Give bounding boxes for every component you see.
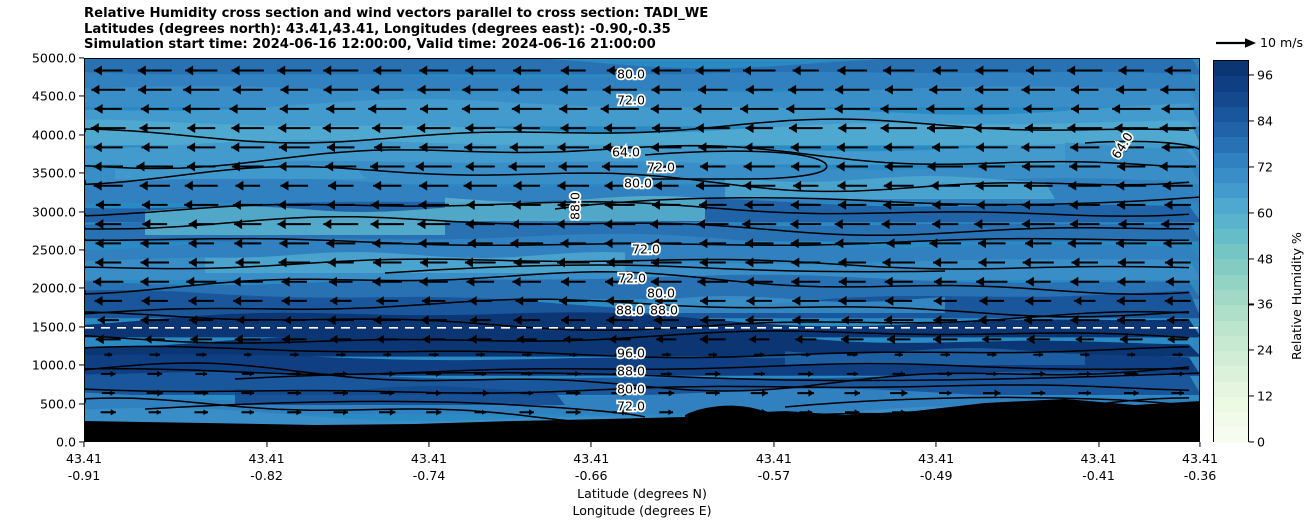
contour-label: 80.0: [617, 67, 645, 82]
y-tick-label: 5000.0: [32, 51, 76, 66]
colorbar-tick-mark: [1249, 304, 1254, 305]
colorbar-segment: [1214, 61, 1248, 76]
y-tick-label: 1500.0: [32, 319, 76, 334]
x-tick-mark: [266, 442, 267, 447]
colorbar-title: Relative Humidity %: [1289, 232, 1304, 360]
colorbar-tick-label: 0: [1257, 435, 1265, 450]
plot-canvas: 80.080.072.072.064.064.072.072.080.080.0…: [85, 59, 1200, 442]
x-tick-mark: [936, 442, 937, 447]
x-tick-mark: [1199, 442, 1200, 447]
colorbar: [1213, 60, 1249, 442]
y-tick-mark: [79, 211, 84, 212]
x-tick-mark: [83, 442, 84, 447]
contour-label: 72.0: [647, 160, 675, 175]
y-tick-mark: [79, 134, 84, 135]
x-tick-longitude: -0.49: [918, 467, 954, 484]
y-tick-mark: [79, 365, 84, 366]
contour-label: 80.0: [647, 286, 675, 301]
colorbar-segment: [1214, 290, 1248, 305]
colorbar-tick-label: 24: [1257, 343, 1273, 358]
contour-label: 64.0: [612, 145, 640, 160]
wind-scale-key: 10 m/s: [1214, 33, 1302, 55]
x-tick-latitude: 43.41: [573, 450, 609, 467]
title-line-1: Relative Humidity cross section and wind…: [84, 6, 1194, 22]
colorbar-tick-label: 12: [1257, 389, 1273, 404]
chart-title: Relative Humidity cross section and wind…: [84, 6, 1194, 53]
y-tick-mark: [79, 57, 84, 58]
y-tick-label: 500.0: [40, 396, 76, 411]
title-line-3: Simulation start time: 2024-06-16 12:00:…: [84, 37, 1194, 53]
x-tick-label: 43.41-0.82: [249, 450, 285, 484]
contour-label: 80.0: [624, 176, 652, 191]
colorbar-segment: [1214, 153, 1248, 168]
colorbar-segment: [1214, 229, 1248, 244]
x-axis-label-latitude: Latitude (degrees N): [522, 485, 762, 502]
y-tick-mark: [79, 288, 84, 289]
colorbar-segment: [1214, 198, 1248, 213]
x-tick-longitude: -0.91: [66, 467, 102, 484]
colorbar-tick-mark: [1249, 212, 1254, 213]
x-tick-label: 43.41-0.49: [918, 450, 954, 484]
colorbar-segment: [1214, 427, 1248, 442]
y-tick-label: 3500.0: [32, 166, 76, 181]
y-tick-label: 2000.0: [32, 281, 76, 296]
y-tick-label: 4000.0: [32, 127, 76, 142]
contour-label: 88.0: [616, 303, 644, 318]
x-tick-latitude: 43.41: [756, 450, 792, 467]
x-tick-latitude: 43.41: [1081, 450, 1117, 467]
y-tick-mark: [79, 403, 84, 404]
x-tick-mark: [591, 442, 592, 447]
x-tick-latitude: 43.41: [66, 450, 102, 467]
y-tick-label: 1000.0: [32, 358, 76, 373]
x-tick-latitude: 43.41: [1182, 450, 1218, 467]
contour-label: 72.0: [617, 399, 645, 414]
x-tick-longitude: -0.57: [756, 467, 792, 484]
colorbar-segment: [1214, 214, 1248, 229]
colorbar-segment: [1214, 412, 1248, 427]
colorbar-tick-mark: [1249, 441, 1254, 442]
contour-label: 96.0: [617, 346, 645, 361]
colorbar-tick-mark: [1249, 396, 1254, 397]
y-tick-label: 0.0: [56, 435, 76, 450]
x-tick-mark: [773, 442, 774, 447]
colorbar-segment: [1214, 382, 1248, 397]
x-tick-longitude: -0.36: [1182, 467, 1218, 484]
x-tick-longitude: -0.74: [411, 467, 447, 484]
colorbar-segment: [1214, 275, 1248, 290]
colorbar-segment: [1214, 321, 1248, 336]
wind-scale-label: 10 m/s: [1260, 35, 1303, 50]
cross-section-plot-area: 80.080.072.072.064.064.072.072.080.080.0…: [84, 58, 1200, 442]
x-tick-longitude: -0.41: [1081, 467, 1117, 484]
contour-label: 72.0: [617, 93, 645, 108]
colorbar-tick-mark: [1249, 121, 1254, 122]
colorbar-segment: [1214, 122, 1248, 137]
colorbar-tick-label: 84: [1257, 114, 1273, 129]
x-tick-label: 43.41-0.36: [1182, 450, 1218, 484]
colorbar-segment: [1214, 259, 1248, 274]
colorbar-segment: [1214, 76, 1248, 91]
colorbar-tick-mark: [1249, 166, 1254, 167]
x-axis-label-longitude: Longitude (degrees E): [522, 502, 762, 519]
colorbar-segment: [1214, 305, 1248, 320]
x-tick-longitude: -0.82: [249, 467, 285, 484]
x-tick-latitude: 43.41: [918, 450, 954, 467]
colorbar-segment: [1214, 107, 1248, 122]
colorbar-segment: [1214, 168, 1248, 183]
colorbar-segment: [1214, 244, 1248, 259]
y-tick-label: 4500.0: [32, 89, 76, 104]
x-tick-label: 43.41-0.91: [66, 450, 102, 484]
y-tick-mark: [79, 326, 84, 327]
x-tick-latitude: 43.41: [249, 450, 285, 467]
colorbar-tick-mark: [1249, 258, 1254, 259]
y-tick-mark: [79, 173, 84, 174]
x-tick-label: 43.41-0.57: [756, 450, 792, 484]
colorbar-tick-mark: [1249, 350, 1254, 351]
colorbar-segment: [1214, 137, 1248, 152]
colorbar-tick-label: 60: [1257, 205, 1273, 220]
arrow-right-icon: [1214, 33, 1258, 53]
colorbar-tick-label: 72: [1257, 159, 1273, 174]
colorbar-segment: [1214, 183, 1248, 198]
y-tick-label: 3000.0: [32, 204, 76, 219]
colorbar-segment: [1214, 351, 1248, 366]
chart-figure: Relative Humidity cross section and wind…: [0, 0, 1304, 526]
colorbar-tick-mark: [1249, 75, 1254, 76]
x-tick-mark: [428, 442, 429, 447]
contour-label: 80.0: [617, 382, 645, 397]
colorbar-tick-label: 48: [1257, 251, 1273, 266]
x-tick-latitude: 43.41: [411, 450, 447, 467]
y-tick-mark: [79, 249, 84, 250]
x-tick-label: 43.41-0.74: [411, 450, 447, 484]
x-tick-label: 43.41-0.66: [573, 450, 609, 484]
colorbar-segment: [1214, 92, 1248, 107]
colorbar-segment: [1214, 336, 1248, 351]
colorbar-segment: [1214, 397, 1248, 412]
contour-label: 88.0: [650, 303, 678, 318]
contour-label: 72.0: [632, 242, 660, 257]
x-tick-label: 43.41-0.41: [1081, 450, 1117, 484]
y-tick-mark: [79, 96, 84, 97]
x-tick-longitude: -0.66: [573, 467, 609, 484]
colorbar-tick-label: 36: [1257, 297, 1273, 312]
contour-label: 88.0: [617, 364, 645, 379]
title-line-2: Latitudes (degrees north): 43.41,43.41, …: [84, 22, 1194, 38]
colorbar-tick-label: 96: [1257, 68, 1273, 83]
x-tick-mark: [1098, 442, 1099, 447]
contour-label: 88.0: [568, 192, 583, 220]
contour-label: 72.0: [618, 271, 646, 286]
colorbar-segment: [1214, 366, 1248, 381]
y-tick-label: 2500.0: [32, 243, 76, 258]
